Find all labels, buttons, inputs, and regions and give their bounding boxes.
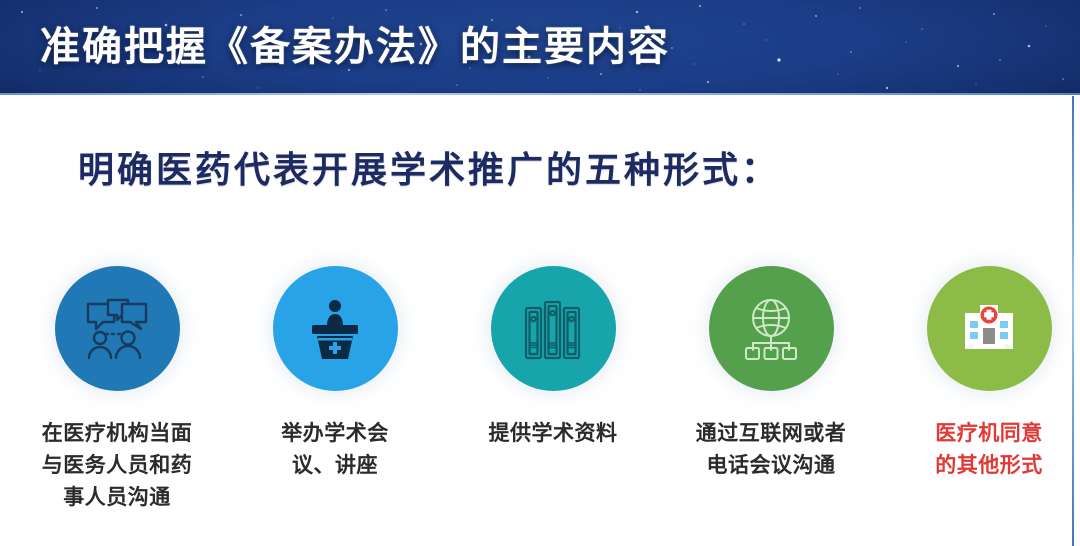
caption-line: 的其他形式 [889,450,1080,482]
caption-line: 举办学术会 [235,418,435,450]
caption-line: 提供学术资料 [453,418,653,450]
list-item[interactable]: 举办学术会 议、讲座 [235,266,435,482]
binders-documents-icon [523,298,583,360]
podium-speaker-icon [306,298,364,360]
people-speech-bubbles-icon [84,298,150,360]
caption-line: 通过互联网或者 [671,418,871,450]
title-banner: 准确把握《备案办法》的主要内容 [0,0,1080,95]
icon-circle-5[interactable] [927,266,1052,391]
banner-underline [0,93,1080,95]
icon-circle-3[interactable] [491,266,616,391]
caption-line: 议、讲座 [235,450,435,482]
item-caption-3: 提供学术资料 [453,418,653,450]
caption-line: 事人员沟通 [17,482,217,514]
icon-circle-2[interactable] [273,266,398,391]
item-caption-5: 医疗机同意 的其他形式 [889,418,1080,482]
icon-circle-4[interactable] [709,266,834,391]
list-item[interactable]: 通过互联网或者 电话会议沟通 [671,266,871,482]
icon-circle-1[interactable] [55,266,180,391]
list-item[interactable]: 提供学术资料 [453,266,653,450]
caption-line: 医疗机同意 [889,418,1080,450]
section-subtitle: 明确医药代表开展学术推广的五种形式： [78,145,780,195]
globe-network-icon [740,298,802,360]
item-caption-2: 举办学术会 议、讲座 [235,418,435,482]
right-edge-rule [1072,96,1074,546]
item-caption-4: 通过互联网或者 电话会议沟通 [671,418,871,482]
forms-list: 在医疗机构当面 与医务人员和药 事人员沟通 [0,266,1080,546]
list-item[interactable]: 医疗机同意 的其他形式 [889,266,1080,482]
caption-line: 在医疗机构当面 [17,418,217,450]
slide-root: 准确把握《备案办法》的主要内容 明确医药代表开展学术推广的五种形式： [0,0,1080,546]
hospital-building-icon [960,300,1018,358]
page-title: 准确把握《备案办法》的主要内容 [40,20,670,74]
caption-line: 电话会议沟通 [671,450,871,482]
item-caption-1: 在医疗机构当面 与医务人员和药 事人员沟通 [17,418,217,514]
list-item[interactable]: 在医疗机构当面 与医务人员和药 事人员沟通 [17,266,217,514]
caption-line: 与医务人员和药 [17,450,217,482]
